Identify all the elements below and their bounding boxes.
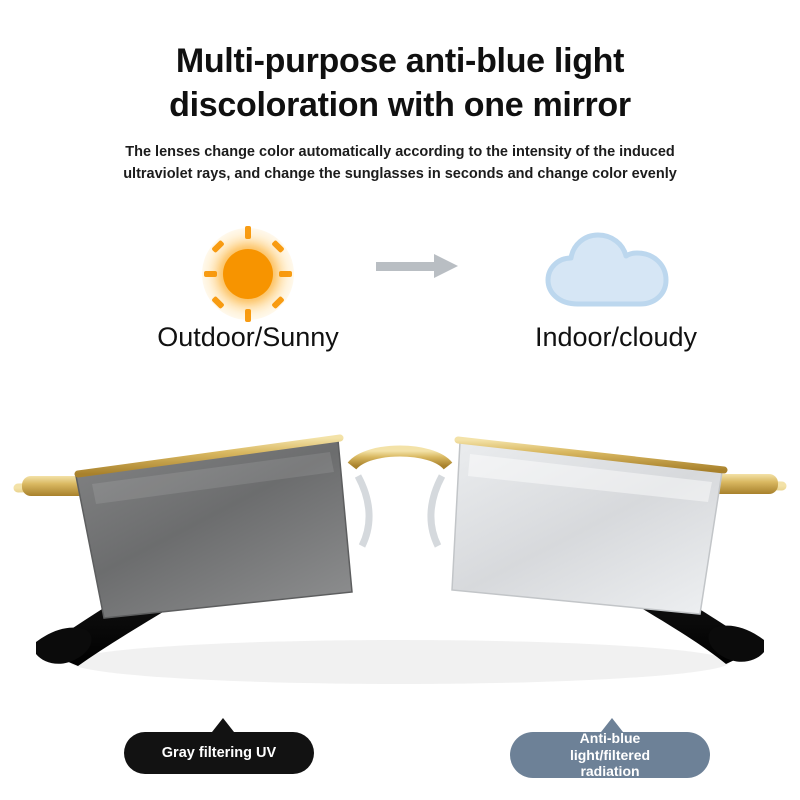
arrow-head	[434, 254, 458, 278]
icon-label-row: Outdoor/Sunny Indoor/cloudy	[0, 322, 800, 368]
cloud-svg	[544, 232, 674, 308]
nose-bridge	[352, 451, 448, 466]
subtitle-line-1: The lenses change color automatically ac…	[0, 142, 800, 164]
subtitle-line-2: ultraviolet rays, and change the sunglas…	[0, 164, 800, 186]
headline-line-1: Multi-purpose anti-blue light	[0, 40, 800, 84]
left-callout-label: Gray filtering UV	[162, 745, 276, 761]
outdoor-label: Outdoor/Sunny	[96, 322, 400, 353]
sun-core	[223, 249, 273, 299]
product-infographic: Multi-purpose anti-blue light discolorat…	[0, 0, 800, 800]
cloud-icon	[534, 224, 694, 324]
product-photo	[0, 380, 800, 710]
sun-ray	[245, 226, 251, 239]
right-callout-badge: Anti-blue light/filtered radiation	[510, 732, 710, 778]
right-callout-line-3: radiation	[570, 763, 650, 780]
right-callout-line-2: light/filtered	[570, 747, 650, 764]
page-title: Multi-purpose anti-blue light discolorat…	[0, 40, 800, 127]
sun-ray	[245, 309, 251, 322]
right-arrow-icon	[376, 252, 468, 280]
page-subtitle: The lenses change color automatically ac…	[0, 142, 800, 186]
arrow-shaft	[376, 262, 438, 271]
left-callout-badge: Gray filtering UV	[124, 732, 314, 774]
callout-row: Gray filtering UV Anti-blue light/filter…	[0, 700, 800, 800]
eyeglasses-illustration	[0, 380, 800, 710]
left-callout-pointer-icon	[212, 718, 234, 732]
right-callout-label: Anti-blue light/filtered radiation	[570, 730, 650, 780]
sun-icon	[168, 218, 328, 328]
indoor-label: Indoor/cloudy	[458, 322, 774, 353]
frame-shadow	[70, 640, 730, 684]
sun-ray	[279, 271, 292, 277]
headline-line-2: discoloration with one mirror	[0, 84, 800, 128]
left-nose-pad	[358, 476, 369, 546]
sun-ray	[204, 271, 217, 277]
right-callout-line-1: Anti-blue	[570, 730, 650, 747]
right-nose-pad	[431, 476, 442, 546]
